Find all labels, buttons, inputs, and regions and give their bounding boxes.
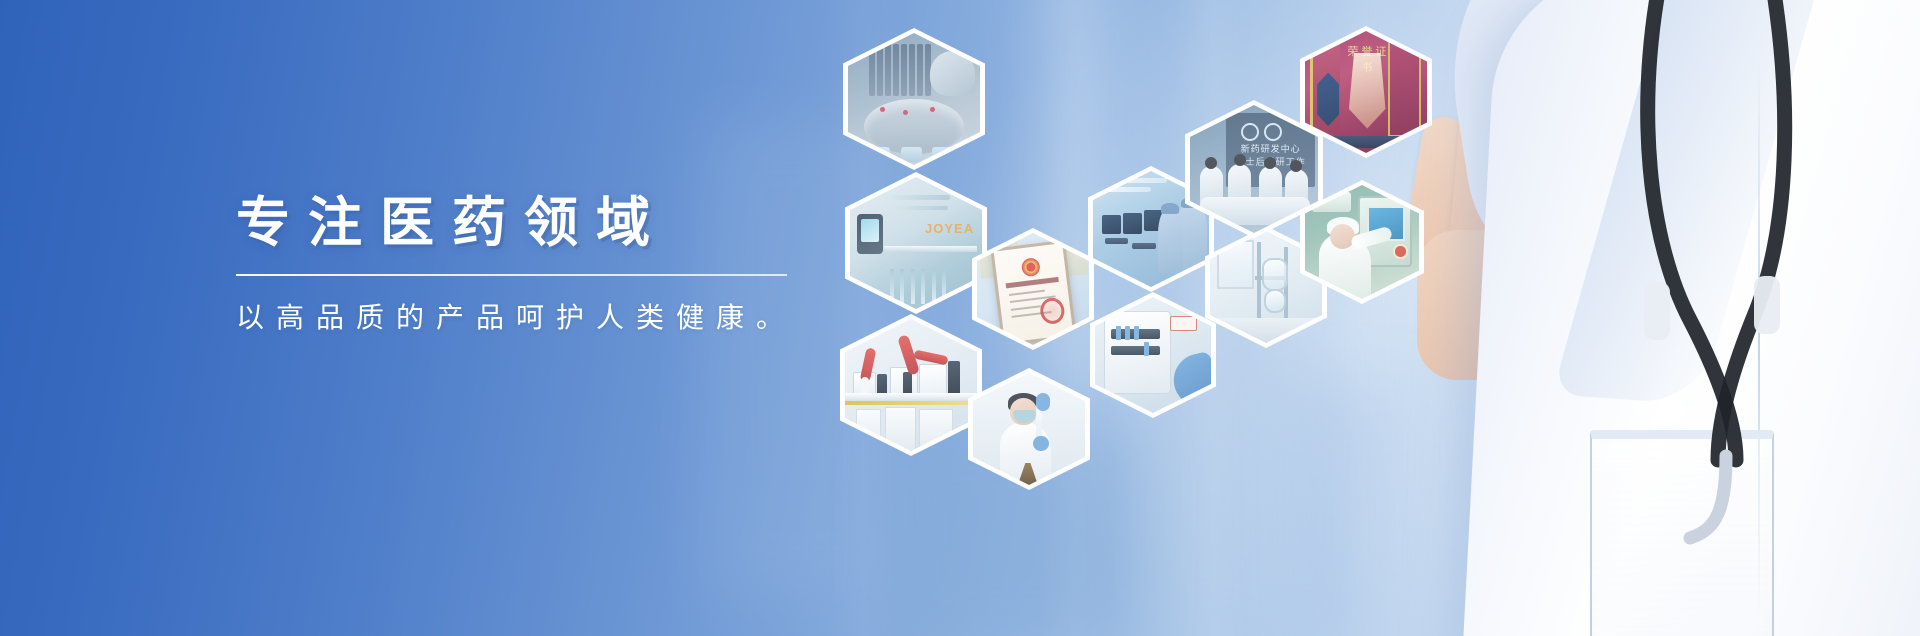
stethoscope-icon (1540, 0, 1900, 550)
banner-text-block: 专注医药领域 以高品质的产品呵护人类健康。 (236, 196, 876, 332)
banner-stage: JOYEA (0, 0, 1920, 636)
banner-headline: 专注医药领域 (236, 196, 876, 250)
headline-divider (236, 274, 787, 276)
doctor-figure (1360, 0, 1920, 636)
banner-subheadline: 以高品质的产品呵护人类健康。 (236, 304, 876, 332)
